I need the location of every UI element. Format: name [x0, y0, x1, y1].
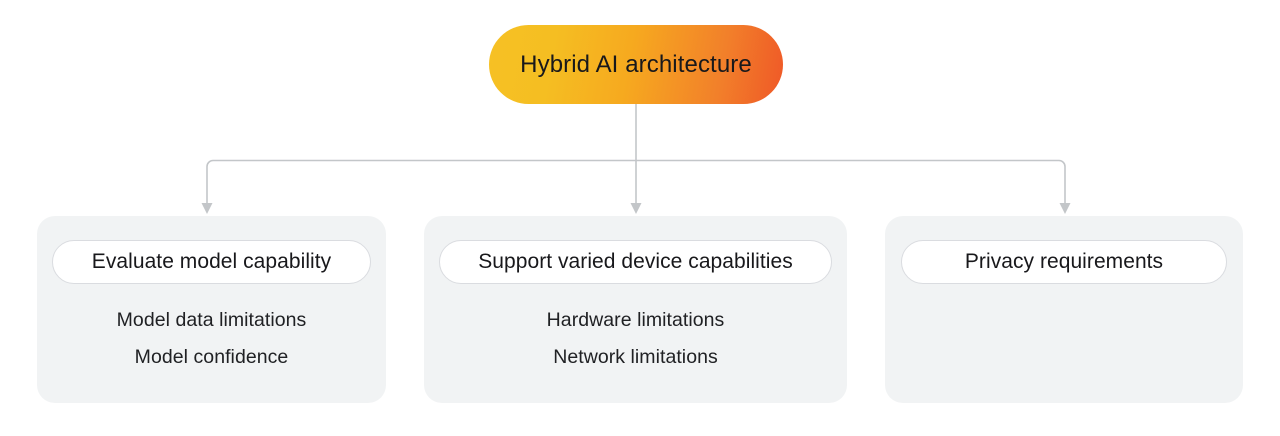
root-node-label: Hybrid AI architecture: [520, 51, 752, 79]
branch-sub-item: Model data limitations: [37, 302, 386, 339]
arrowhead-left-icon: [202, 203, 213, 214]
branch-pill-evaluate-model-capability[interactable]: Evaluate model capability: [52, 240, 371, 284]
branch-pill-support-varied-device-capabilities[interactable]: Support varied device capabilities: [439, 240, 832, 284]
branch-card-privacy-requirements[interactable]: Privacy requirements: [885, 216, 1243, 403]
connector-branch-right: [636, 161, 1065, 205]
branch-sub-item-list: Hardware limitations Network limitations: [424, 302, 847, 376]
connector-branch-left: [207, 161, 636, 205]
branch-sub-item: Hardware limitations: [424, 302, 847, 339]
arrowhead-center-icon: [631, 203, 642, 214]
hybrid-ai-architecture-diagram: Hybrid AI architecture Evaluate model ca…: [0, 0, 1280, 436]
branch-sub-item-list: Model data limitations Model confidence: [37, 302, 386, 376]
branch-pill-label: Privacy requirements: [965, 250, 1163, 274]
branch-sub-item: Network limitations: [424, 339, 847, 376]
branch-sub-item: Model confidence: [37, 339, 386, 376]
branch-pill-privacy-requirements[interactable]: Privacy requirements: [901, 240, 1227, 284]
branch-cards-row: Evaluate model capability Model data lim…: [37, 216, 1243, 403]
branch-card-support-varied-device-capabilities[interactable]: Support varied device capabilities Hardw…: [424, 216, 847, 403]
root-node-hybrid-ai-architecture[interactable]: Hybrid AI architecture: [489, 25, 783, 104]
arrowhead-right-icon: [1060, 203, 1071, 214]
branch-pill-label: Support varied device capabilities: [478, 250, 793, 274]
branch-pill-label: Evaluate model capability: [92, 250, 331, 274]
branch-card-evaluate-model-capability[interactable]: Evaluate model capability Model data lim…: [37, 216, 386, 403]
